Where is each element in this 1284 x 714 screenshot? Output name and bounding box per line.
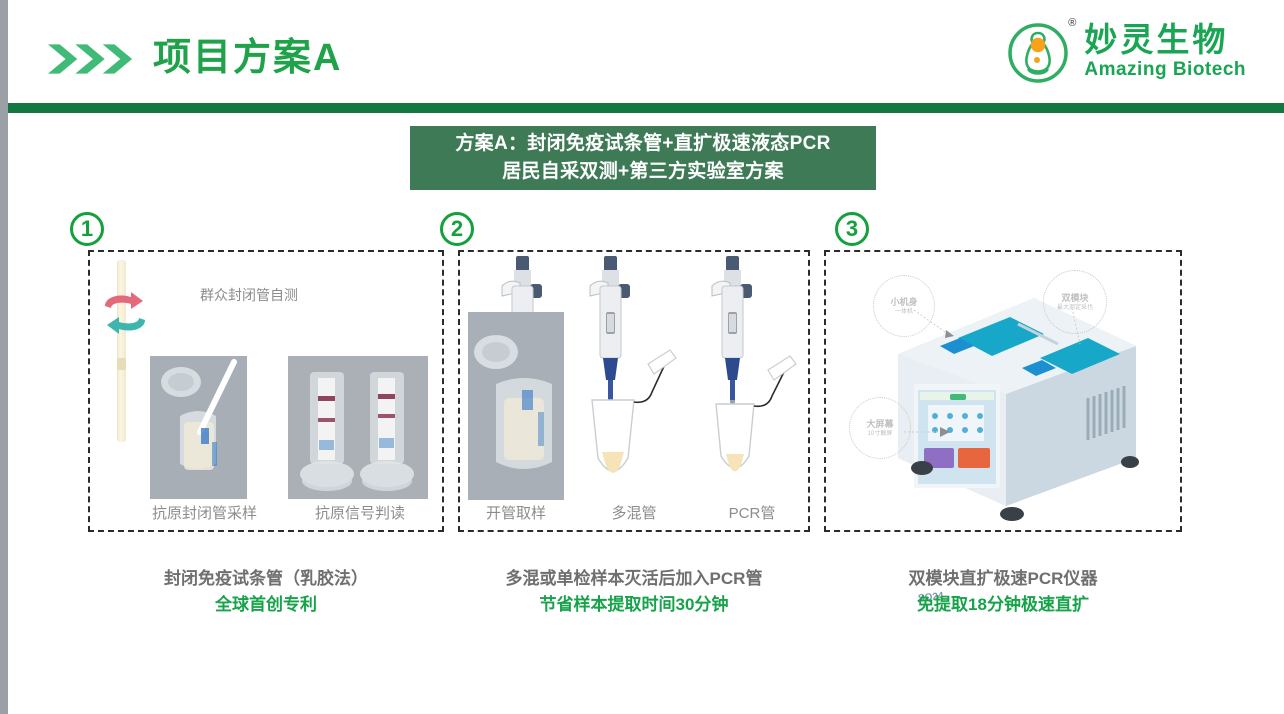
- callout-dual-module: 双模块 最大测定采也: [1043, 270, 1107, 334]
- antigen-sealed-tube-sampling-photo: [150, 356, 247, 499]
- callout-subtitle: 一体机: [895, 308, 913, 316]
- step-1-panel: 群众封闭管自测: [88, 250, 444, 532]
- summary-title: 双模块直扩极速PCR仪器: [824, 566, 1182, 592]
- photo-caption: PCR管: [700, 502, 804, 523]
- callout-title: 小机身: [890, 297, 917, 308]
- registered-mark: ®: [1068, 17, 1076, 29]
- antigen-signal-reading-photo: [288, 356, 428, 499]
- photo-caption: 多混管: [576, 502, 692, 523]
- summary-highlight: 节省样本提取时间30分钟: [458, 592, 810, 618]
- open-tube-sampling-photo: [468, 312, 564, 500]
- flask-circle-logo-icon: ®: [1006, 17, 1074, 85]
- banner-line-1: 方案A：封闭免疫试条管+直扩极速液态PCR: [455, 130, 830, 158]
- step-3-panel: 小机身 一体机 双模块 最大测定采也 大屏幕 10寸触屏 SQ24: [824, 250, 1182, 532]
- summary-step-1: 封闭免疫试条管（乳胶法） 全球首创专利: [88, 566, 444, 618]
- page-title: 项目方案A: [153, 32, 342, 84]
- step-2-panel: 开管取样 多混管 PCR管: [458, 250, 810, 532]
- rotate-arrows-icon: [97, 288, 153, 345]
- pipette-illustration-3: [700, 252, 810, 502]
- triple-chevron-right-icon: [46, 42, 136, 76]
- summary-highlight: 全球首创专利: [88, 592, 444, 618]
- step-badge-1: 1: [70, 212, 104, 246]
- summary-title: 多混或单检样本灭活后加入PCR管: [458, 566, 810, 592]
- callout-large-screen: 大屏幕 10寸触屏: [849, 397, 911, 459]
- summary-step-2: 多混或单检样本灭活后加入PCR管 节省样本提取时间30分钟: [458, 566, 810, 618]
- header-divider: [8, 103, 1284, 113]
- swab-stick-joint: [117, 358, 126, 370]
- company-logo: ® 妙灵生物 Amazing Biotech: [1006, 16, 1246, 86]
- callout-small-body: 小机身 一体机: [873, 275, 935, 337]
- photo-caption: 开管取样: [464, 502, 568, 523]
- page-header: 项目方案A ® 妙灵生物 Amazing Biotech: [8, 0, 1284, 103]
- logo-name-en: Amazing Biotech: [1084, 59, 1246, 81]
- logo-name-cn: 妙灵生物: [1084, 21, 1246, 59]
- left-edge-strip: [0, 0, 8, 714]
- summary-highlight: 免提取18分钟极速直扩: [824, 592, 1182, 618]
- summary-title: 封闭免疫试条管（乳胶法）: [88, 566, 444, 592]
- step-badge-3: 3: [835, 212, 869, 246]
- pipette-illustration-2: [578, 252, 688, 502]
- callout-subtitle: 最大测定采也: [1057, 304, 1093, 312]
- summary-step-3: 双模块直扩极速PCR仪器 免提取18分钟极速直扩: [824, 566, 1182, 618]
- photo-caption: 抗原信号判读: [290, 502, 430, 523]
- self-test-note: 群众封闭管自测: [200, 285, 298, 305]
- callout-subtitle: 10寸触屏: [868, 430, 893, 438]
- photo-caption: 抗原封闭管采样: [152, 502, 252, 523]
- step-badge-2: 2: [440, 212, 474, 246]
- callout-title: 大屏幕: [866, 419, 893, 430]
- banner-line-2: 居民自采双测+第三方实验室方案: [502, 158, 784, 186]
- scheme-banner: 方案A：封闭免疫试条管+直扩极速液态PCR 居民自采双测+第三方实验室方案: [410, 126, 876, 190]
- callout-title: 双模块: [1061, 293, 1088, 304]
